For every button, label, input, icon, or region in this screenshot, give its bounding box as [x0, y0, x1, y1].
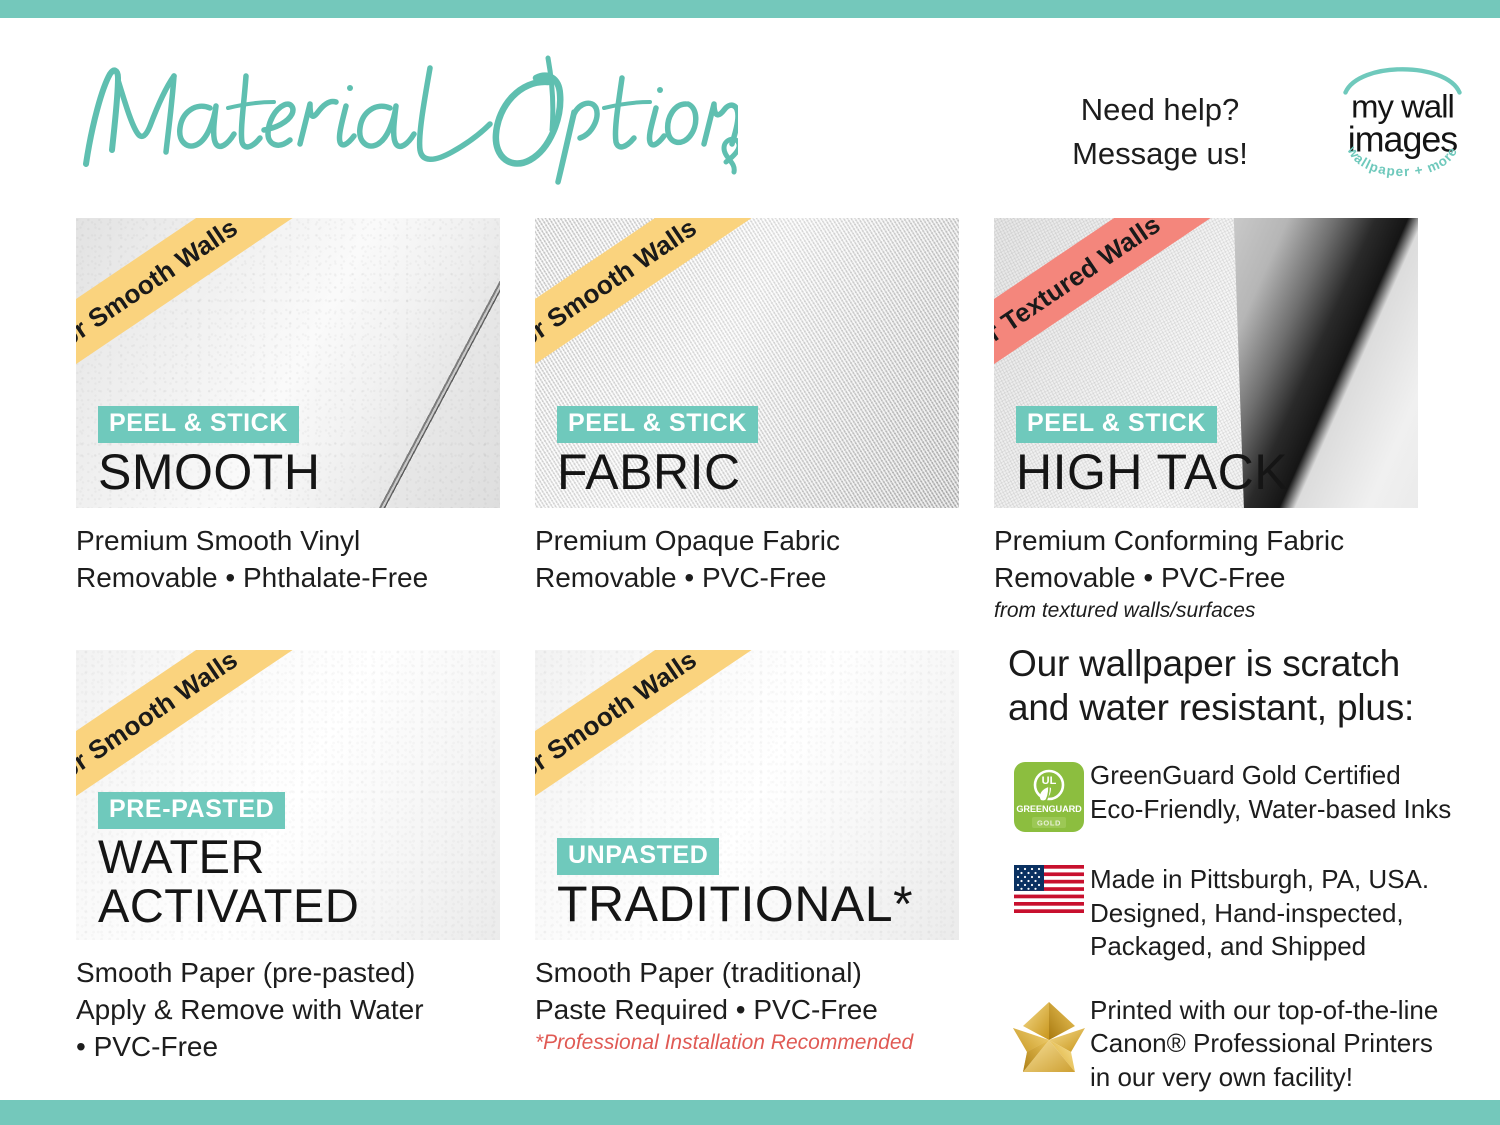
caption-line-2: Removable • PVC-Free [535, 559, 959, 596]
material-card-fabric[interactable]: for Smooth Walls PEEL & STICK FABRIC Pre… [535, 218, 959, 596]
material-name: TRADITIONAL* [557, 879, 913, 931]
adhesive-badge: UNPASTED [557, 838, 719, 875]
caption-line-1: Smooth Paper (traditional) [535, 954, 959, 991]
swatch-label-block: PEEL & STICK HIGH TACK [1016, 406, 1288, 499]
sheet-edge-line [784, 218, 959, 508]
svg-text:UL: UL [1042, 775, 1057, 787]
page-title [78, 46, 738, 186]
gold-star-icon [1008, 994, 1090, 1074]
caption-note: *Professional Installation Recommended [535, 1029, 959, 1057]
feature-line-2: Designed, Hand-inspected, [1090, 897, 1429, 931]
caption-line-2: Paste Required • PVC-Free [535, 991, 959, 1028]
swatch-label-block: PEEL & STICK SMOOTH [98, 406, 320, 499]
material-card-high-tack[interactable]: for Textured Walls PEEL & STICK HIGH TAC… [994, 218, 1418, 625]
feature-line-2: Eco-Friendly, Water-based Inks [1090, 793, 1451, 827]
adhesive-badge: PEEL & STICK [98, 406, 299, 443]
caption-line-1: Premium Opaque Fabric [535, 522, 959, 559]
material-caption: Smooth Paper (traditional) Paste Require… [535, 954, 959, 1057]
material-swatch-water-activated: for Smooth Walls PRE-PASTED WATERACTIVAT… [76, 650, 500, 940]
features-panel: Our wallpaper is scratch and water resis… [1008, 642, 1458, 1125]
material-caption: Premium Conforming Fabric Removable • PV… [994, 522, 1418, 625]
adhesive-badge: PEEL & STICK [557, 406, 758, 443]
caption-line-1: Smooth Paper (pre-pasted) [76, 954, 500, 991]
top-accent-bar [0, 0, 1500, 18]
feature-item: Printed with our top-of-the-line Canon® … [1008, 994, 1458, 1095]
need-help-block: Need help? Message us! [1045, 88, 1275, 176]
material-swatch-traditional: for Smooth Walls UNPASTED TRADITIONAL* [535, 650, 959, 940]
adhesive-badge: PEEL & STICK [1016, 406, 1217, 443]
page-header: Material Options Need help? Message us! … [0, 18, 1500, 210]
material-name: FABRIC [557, 447, 758, 499]
need-help-line2: Message us! [1045, 132, 1275, 176]
greenguard-gold-badge-icon: UL GREENGUARD GOLD [1008, 759, 1090, 833]
feature-text: Printed with our top-of-the-line Canon® … [1090, 994, 1438, 1095]
feature-line-3: in our very own facility! [1090, 1061, 1438, 1095]
swatch-label-block: PEEL & STICK FABRIC [557, 406, 758, 499]
feature-line-1: GreenGuard Gold Certified [1090, 759, 1451, 793]
material-caption: Premium Smooth Vinyl Removable • Phthala… [76, 522, 500, 596]
sheet-fold-edge [350, 650, 500, 940]
feature-line-1: Made in Pittsburgh, PA, USA. [1090, 863, 1429, 897]
adhesive-badge: PRE-PASTED [98, 792, 285, 829]
features-heading: Our wallpaper is scratch and water resis… [1008, 642, 1458, 729]
caption-line-2: Removable • PVC-Free [994, 559, 1418, 596]
feature-line-2: Canon® Professional Printers [1090, 1027, 1438, 1061]
brand-logo: my wall images wallpaper + more [1330, 48, 1475, 193]
material-card-smooth[interactable]: for Smooth Walls PEEL & STICK SMOOTH Pre… [76, 218, 500, 596]
material-card-water-activated[interactable]: for Smooth Walls PRE-PASTED WATERACTIVAT… [76, 650, 500, 1066]
feature-item: UL GREENGUARD GOLD GreenGuard Gold Certi… [1008, 759, 1458, 833]
material-swatch-high-tack: for Textured Walls PEEL & STICK HIGH TAC… [994, 218, 1418, 508]
material-caption: Premium Opaque Fabric Removable • PVC-Fr… [535, 522, 959, 596]
feature-line-1: Printed with our top-of-the-line [1090, 994, 1438, 1028]
feature-text: GreenGuard Gold Certified Eco-Friendly, … [1090, 759, 1451, 826]
caption-line-3: • PVC-Free [76, 1028, 500, 1065]
material-caption: Smooth Paper (pre-pasted) Apply & Remove… [76, 954, 500, 1066]
caption-line-1: Premium Smooth Vinyl [76, 522, 500, 559]
material-swatch-smooth: for Smooth Walls PEEL & STICK SMOOTH [76, 218, 500, 508]
feature-item: Made in Pittsburgh, PA, USA. Designed, H… [1008, 863, 1458, 964]
caption-line-1: Premium Conforming Fabric [994, 522, 1418, 559]
need-help-line1: Need help? [1045, 88, 1275, 132]
caption-line-2: Removable • Phthalate-Free [76, 559, 500, 596]
material-card-traditional[interactable]: for Smooth Walls UNPASTED TRADITIONAL* S… [535, 650, 959, 1057]
material-name: WATERACTIVATED [98, 833, 359, 930]
material-swatch-fabric: for Smooth Walls PEEL & STICK FABRIC [535, 218, 959, 508]
material-name: SMOOTH [98, 447, 320, 499]
caption-line-2: Apply & Remove with Water [76, 991, 500, 1028]
feature-line-3: Packaged, and Shipped [1090, 930, 1429, 964]
svg-text:GREENGUARD: GREENGUARD [1016, 804, 1082, 814]
features-list: UL GREENGUARD GOLD GreenGuard Gold Certi… [1008, 759, 1458, 1094]
usa-flag-icon [1008, 863, 1090, 913]
material-name: HIGH TACK [1016, 447, 1288, 499]
caption-note: from textured walls/surfaces [994, 597, 1418, 625]
feature-text: Made in Pittsburgh, PA, USA. Designed, H… [1090, 863, 1429, 964]
swatch-label-block: PRE-PASTED WATERACTIVATED [98, 792, 359, 930]
svg-text:GOLD: GOLD [1037, 819, 1061, 828]
swatch-label-block: UNPASTED TRADITIONAL* [557, 838, 913, 931]
